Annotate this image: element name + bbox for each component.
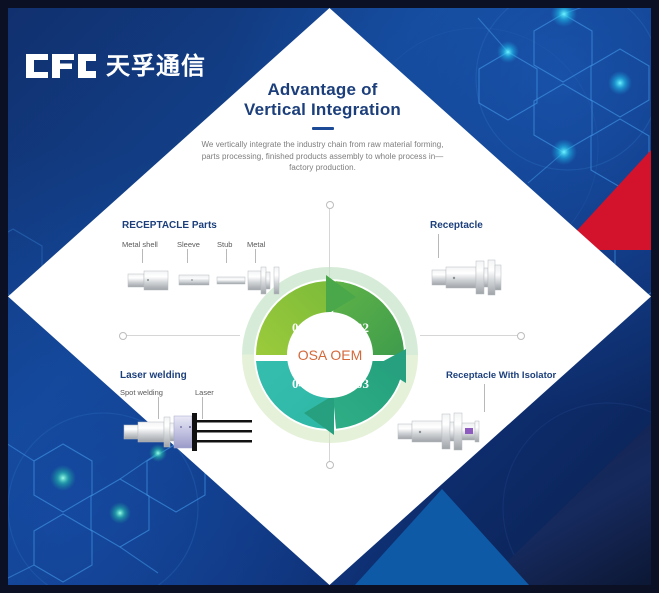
- leader-line-stub: [226, 249, 227, 263]
- poster-canvas: 天孚通信 Advantage of Vertical Integration W…: [0, 0, 659, 593]
- part-label-stub: Stub: [217, 240, 232, 249]
- part-label-sleeve: Sleeve: [177, 240, 200, 249]
- cycle-number-03: 03: [356, 376, 370, 391]
- cycle-center-label: OSA OEM: [298, 347, 363, 363]
- guide-dot-left: [119, 332, 127, 340]
- cfc-logo-icon: [24, 52, 98, 80]
- page-title-line2: Vertical Integration: [195, 100, 450, 120]
- guide-line-right: [420, 335, 520, 336]
- section-title-receptacle: Receptacle: [430, 220, 550, 231]
- cycle-number-02: 02: [356, 320, 369, 335]
- guide-line-left: [125, 335, 240, 336]
- leader-line-metal: [255, 249, 256, 263]
- leader-line-sleeve: [187, 249, 188, 263]
- guide-dot-top: [326, 201, 334, 209]
- leader-line-receptacle: [438, 234, 439, 258]
- title-divider: [312, 127, 334, 130]
- header-block: Advantage of Vertical Integration We ver…: [195, 80, 450, 174]
- receptacle-illustration: [430, 256, 550, 301]
- guide-dot-bottom: [326, 461, 334, 469]
- laser-welding-illustration: [120, 410, 295, 458]
- brand-logo-text: 天孚通信: [106, 52, 206, 80]
- receptacle-isolator-illustration: [396, 408, 526, 458]
- page-description: We vertically integrate the industry cha…: [195, 139, 450, 174]
- section-title-receptacle-with-isolator: Receptacle With Isolator: [446, 370, 576, 381]
- label-laser: Laser: [195, 388, 214, 397]
- section-title-laser-welding: Laser welding: [120, 370, 295, 381]
- section-receptacle-with-isolator: Receptacle With Isolator: [446, 370, 576, 450]
- label-spot-welding: Spot welding: [120, 388, 163, 397]
- receptacle-parts-illustration: [122, 262, 297, 302]
- section-laser-welding: Laser welding Spot welding Laser: [120, 370, 295, 450]
- section-receptacle-parts: RECEPTACLE Parts Metal shell Sleeve Stub…: [122, 220, 297, 290]
- page-title-line1: Advantage of: [195, 80, 450, 100]
- guide-dot-right: [517, 332, 525, 340]
- brand-logo[interactable]: 天孚通信: [24, 52, 206, 80]
- part-label-metal: Metal: [247, 240, 265, 249]
- part-label-metal-shell: Metal shell: [122, 240, 158, 249]
- section-receptacle: Receptacle: [430, 220, 550, 295]
- leader-line-metal-shell: [142, 249, 143, 263]
- cycle-number-01: 01: [292, 320, 305, 335]
- section-title-receptacle-parts: RECEPTACLE Parts: [122, 220, 297, 231]
